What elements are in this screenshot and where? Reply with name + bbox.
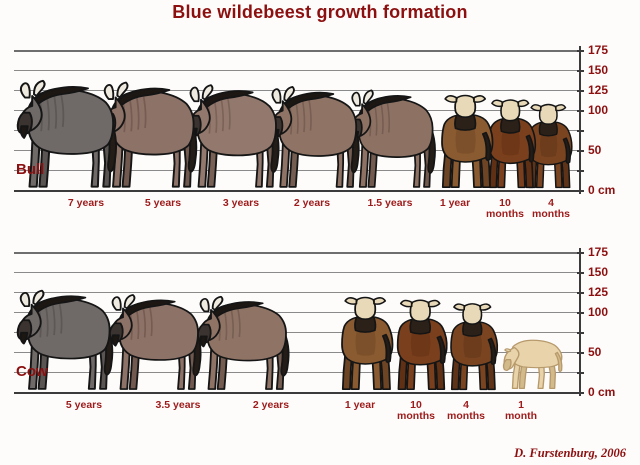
y-tick-0 bbox=[577, 392, 584, 394]
category-label-cow-0: 5 years bbox=[49, 400, 119, 411]
category-label-cow-6: 1 month bbox=[486, 400, 556, 422]
y-tick-25 bbox=[577, 372, 584, 374]
category-label-cow-2: 2 years bbox=[236, 400, 306, 411]
animal-cow-2 bbox=[196, 282, 296, 392]
y-tick-label-50: 50 bbox=[588, 346, 601, 358]
panel-label-bull: Bull bbox=[16, 162, 44, 177]
y-tick-150 bbox=[577, 272, 584, 274]
panel-label-cow: Cow bbox=[16, 364, 48, 379]
animal-cow-1 bbox=[108, 280, 208, 392]
credit-line: D. Furstenburg, 2006 bbox=[514, 446, 626, 461]
animal-cow-3 bbox=[330, 287, 402, 392]
y-tick-100 bbox=[577, 312, 584, 314]
y-tick-175 bbox=[577, 252, 584, 254]
category-label-cow-1: 3.5 years bbox=[143, 400, 213, 411]
y-tick-125 bbox=[577, 292, 584, 294]
chart-canvas: Blue wildebeest growth formation 1751501… bbox=[0, 0, 640, 465]
y-tick-50 bbox=[577, 352, 584, 354]
gridline-175 bbox=[14, 252, 579, 254]
y-tick-label-125: 125 bbox=[588, 286, 608, 298]
y-tick-75 bbox=[577, 332, 584, 334]
y-tick-label-175: 175 bbox=[588, 246, 608, 258]
y-tick-label-100: 100 bbox=[588, 306, 608, 318]
gridline-150 bbox=[14, 272, 579, 273]
gridline-0 bbox=[14, 392, 579, 394]
y-tick-label-0: 0 cm bbox=[588, 386, 615, 398]
animal-cow-6 bbox=[498, 326, 574, 392]
y-tick-label-150: 150 bbox=[588, 266, 608, 278]
